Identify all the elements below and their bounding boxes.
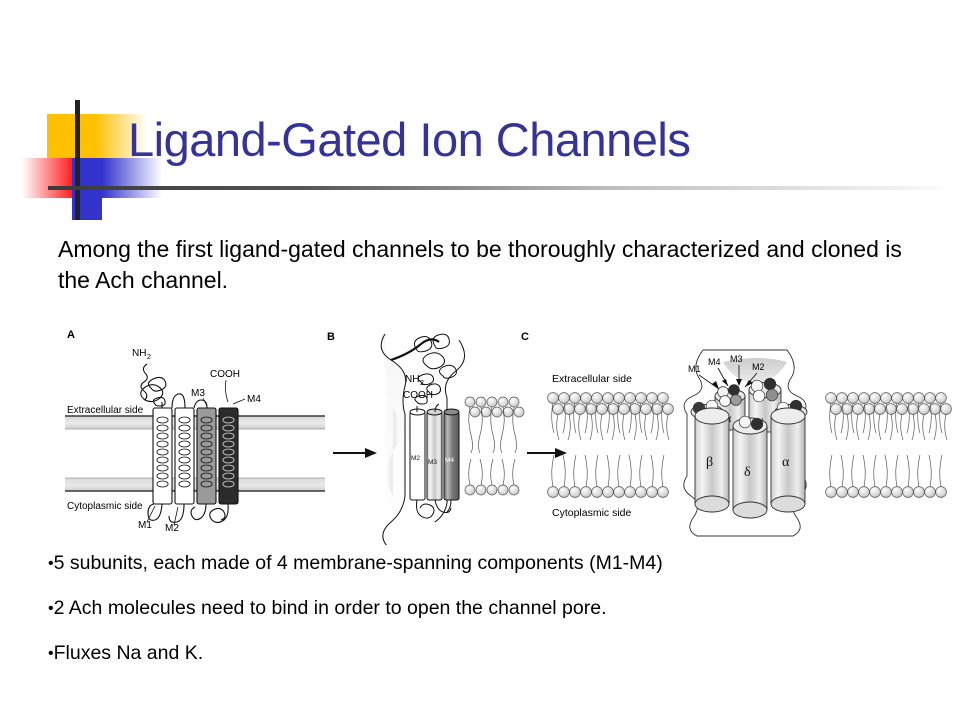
- panel-b-labels: NH 2 COOH: [403, 374, 433, 401]
- panel-a-helix-m4: [219, 408, 238, 504]
- panel-b-nterm-subscript: 2: [420, 380, 424, 387]
- arrow-b-to-c: [527, 448, 567, 458]
- decoration-red-gradient: [22, 158, 72, 198]
- panel-b-cterm-label: COOH: [403, 390, 433, 401]
- panel-c-m4-label: M4: [708, 357, 721, 367]
- panel-a: A: [65, 329, 325, 534]
- panel-b: B M2 M3: [327, 331, 524, 545]
- panel-c-extracellular-label: Extracellular side: [552, 373, 632, 385]
- panel-a-helix-m3: [197, 408, 216, 504]
- panel-b-label: B: [327, 331, 335, 343]
- slide-canvas: Ligand-Gated Ion Channels Among the firs…: [0, 0, 960, 720]
- panel-c-subunit-beta: β: [695, 408, 729, 512]
- panel-c-subunit-delta: δ: [733, 416, 767, 518]
- list-item: •5 subunits, each made of 4 membrane-spa…: [48, 552, 948, 575]
- panel-c-label: C: [521, 331, 529, 343]
- panel-a-nterm-subscript: 2: [147, 354, 151, 361]
- lead-paragraph: Among the first ligand-gated channels to…: [58, 234, 938, 296]
- panel-a-m4-label: M4: [247, 394, 261, 405]
- panel-a-helix-m2: [175, 408, 194, 504]
- panel-b-helix-m2: M2: [410, 409, 425, 500]
- bullet-text: Fluxes Na and K.: [54, 642, 204, 664]
- panel-a-cytoplasmic-label: Cytoplasmic side: [67, 501, 143, 512]
- list-item: •2 Ach molecules need to bind in order t…: [48, 597, 948, 620]
- panel-c-m2-label: M2: [752, 362, 765, 372]
- figure-svg: A: [55, 320, 955, 545]
- panel-b-bilayer: [465, 397, 524, 495]
- panel-c-bilayer-left: [548, 393, 674, 498]
- panel-b-nterm-label: NH: [405, 374, 419, 385]
- panel-a-helix-m1: [153, 408, 172, 504]
- panel-a-m3-label: M3: [191, 388, 205, 399]
- bullet-list: •5 subunits, each made of 4 membrane-spa…: [48, 552, 948, 687]
- panel-c-m3-label: M3: [730, 354, 743, 364]
- panel-b-m2-label: M2: [411, 455, 420, 462]
- panel-c-beta-label: β: [706, 455, 713, 470]
- panel-c-bilayer-right: [826, 393, 952, 498]
- panel-a-cterm-label: COOH: [210, 369, 240, 380]
- panel-b-helix-m4: M4: [444, 409, 459, 500]
- panel-a-extracellular-label: Extracellular side: [67, 405, 144, 416]
- decoration-yellow-block: [47, 114, 95, 162]
- panel-a-membrane: [65, 416, 325, 491]
- panel-a-m1-label: M1: [138, 520, 152, 531]
- bullet-text: 2 Ach molecules need to bind in order to…: [54, 597, 607, 619]
- panel-a-label: A: [67, 329, 75, 341]
- panel-c-subunit-alpha-right: α: [771, 408, 805, 512]
- bullet-text: 5 subunits, each made of 4 membrane-span…: [54, 552, 663, 574]
- panel-c-delta-label: δ: [744, 465, 751, 480]
- list-item: •Fluxes Na and K.: [48, 642, 948, 665]
- panel-c-cytoplasmic-label: Cytoplasmic side: [552, 507, 632, 519]
- decoration-vertical-bar: [75, 100, 80, 220]
- panel-b-helix-m3: M3: [427, 409, 442, 500]
- panel-b-m4-label: M4: [445, 457, 454, 464]
- arrow-a-to-b: [333, 448, 377, 458]
- page-title: Ligand-Gated Ion Channels: [128, 112, 690, 167]
- panel-c-m1-label: M1: [688, 364, 701, 374]
- panel-a-nterm-label: NH: [132, 348, 146, 359]
- panel-c: C: [521, 331, 951, 536]
- title-underline-rule: [48, 186, 948, 190]
- panel-a-m2-label: M2: [165, 523, 179, 534]
- nachr-assembly-figure: A: [55, 320, 955, 545]
- panel-c-alpha-right-label: α: [782, 455, 790, 470]
- panel-b-m3-label: M3: [428, 459, 437, 466]
